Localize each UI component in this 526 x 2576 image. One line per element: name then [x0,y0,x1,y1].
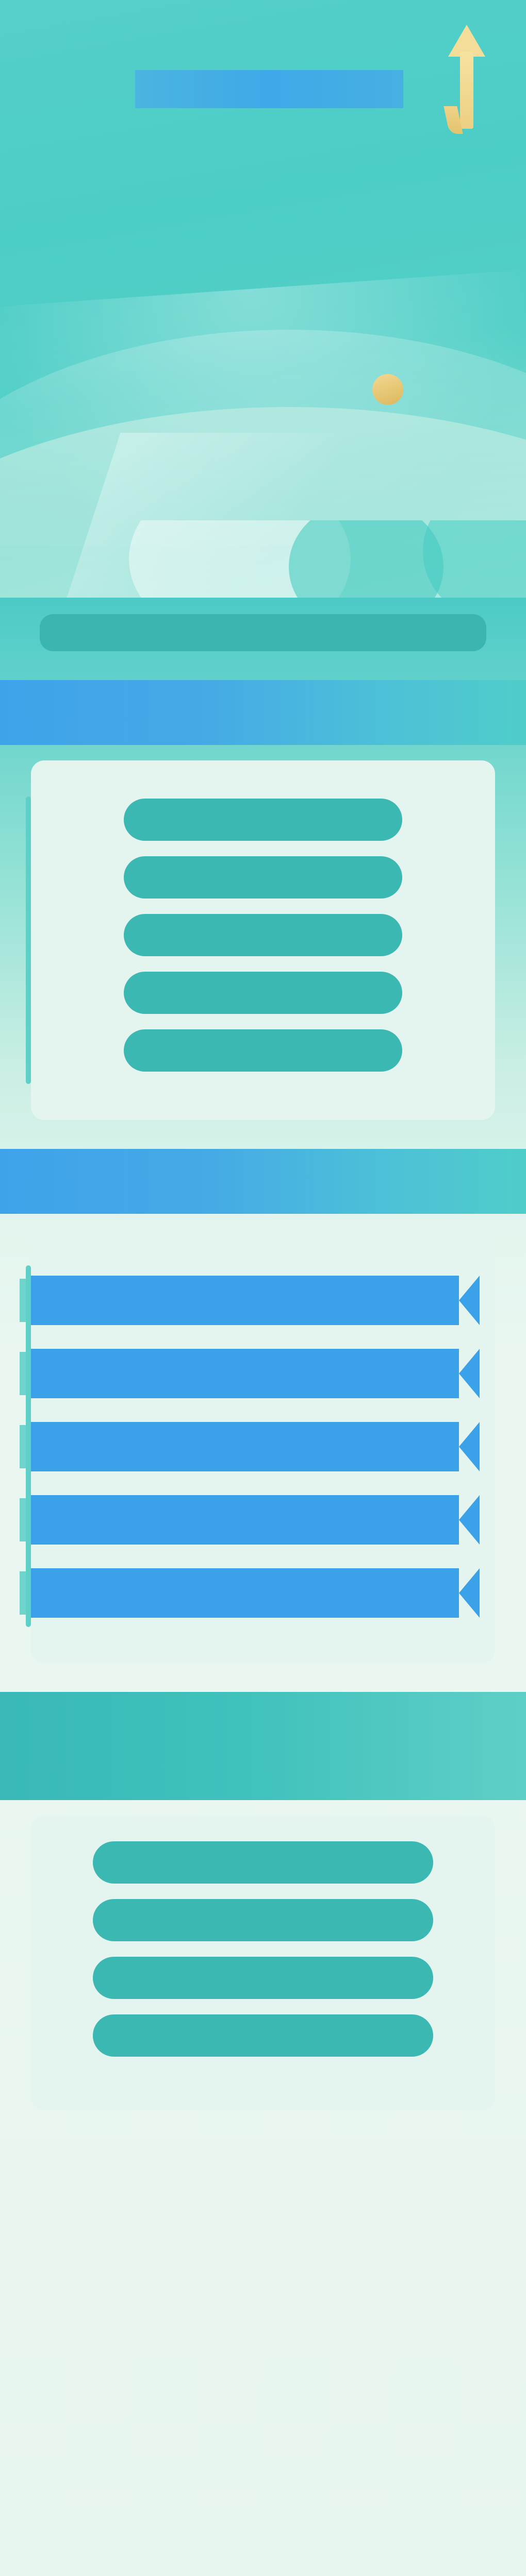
section-2-heading [0,1149,526,1214]
task-ribbon[interactable] [31,1349,480,1398]
task-ribbon[interactable] [31,1276,480,1325]
hero-title [0,155,526,168]
city-skyline-illustration [0,520,526,598]
coordination-pill[interactable] [93,1957,433,1999]
ribbon-tab [20,1352,26,1395]
coordination-pill[interactable] [93,2014,433,2057]
task-ribbon[interactable] [31,1422,480,1471]
coordination-pill[interactable] [93,1841,433,1884]
footer-city-illustration [0,2373,526,2576]
section-3-heading [0,1692,526,1800]
task-item [52,1276,474,1325]
section-3-panel [31,1816,495,2110]
ribbon-tab [20,1279,26,1322]
hero-section [0,0,526,598]
task-item [52,1568,474,1618]
coordination-pill[interactable] [93,1899,433,1941]
ribbon-tab [20,1571,26,1615]
task-item [52,1495,474,1545]
section-1-panel [31,760,495,1120]
task-item [52,1422,474,1471]
highlight-pill[interactable] [124,1029,402,1072]
highlight-pill[interactable] [124,799,402,841]
section-1-heading [0,680,526,745]
section-2-panel [31,1229,495,1663]
footer [0,2151,526,2576]
highlight-pill[interactable] [124,856,402,899]
ribbon-tab [20,1498,26,1541]
highlight-pill[interactable] [124,972,402,1014]
read-in-one-image-badge [135,70,403,108]
task-item [52,1349,474,1398]
task-ribbon[interactable] [31,1568,480,1618]
highlight-pill[interactable] [124,914,402,956]
intro-card [40,614,486,651]
gold-dot-decoration [372,374,403,405]
ribbon-tab [20,1425,26,1468]
task-ribbon[interactable] [31,1495,480,1545]
